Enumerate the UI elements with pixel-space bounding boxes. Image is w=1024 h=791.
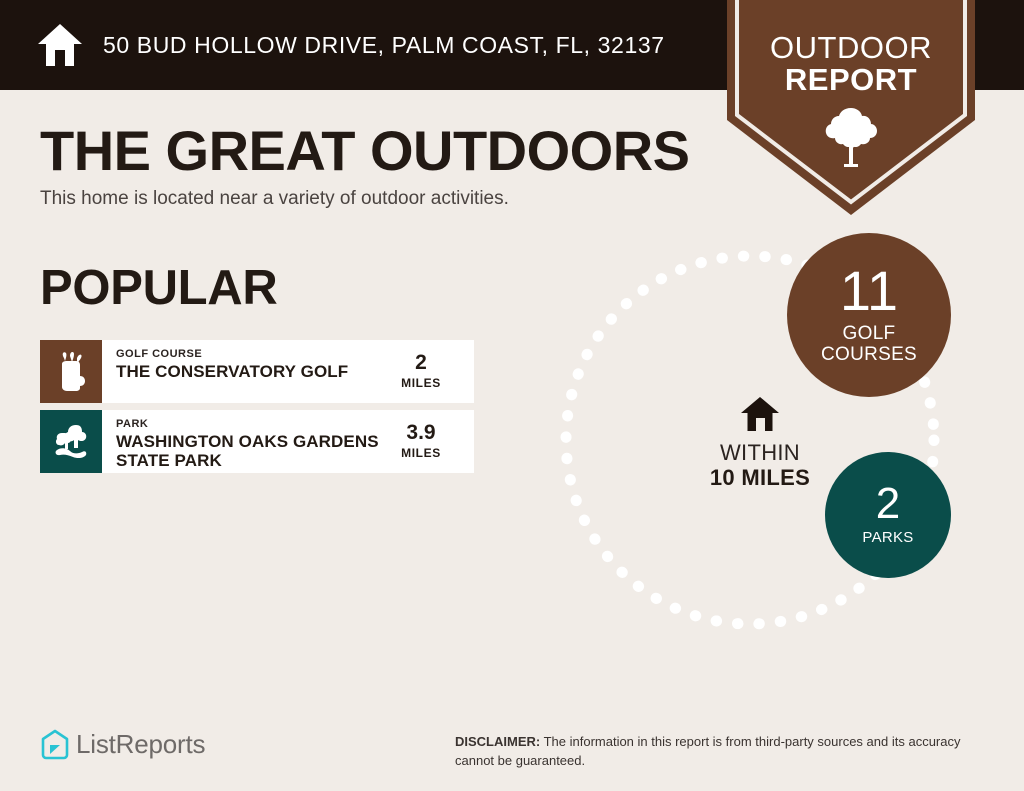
park-trees-icon [50, 421, 92, 463]
outdoor-report-badge: OUTDOOR REPORT [727, 0, 975, 215]
badge-title-line1: OUTDOOR [727, 32, 975, 63]
stat-label: PARKS [862, 530, 913, 546]
radius-line-1: WITHIN [680, 441, 840, 466]
popular-section-title: POPULAR [40, 264, 277, 313]
radius-center-label: WITHIN 10 MILES [680, 395, 840, 490]
list-item[interactable]: GOLF COURSE THE CONSERVATORY GOLF 2 MILE… [40, 340, 474, 403]
popular-list: GOLF COURSE THE CONSERVATORY GOLF 2 MILE… [40, 340, 474, 480]
stat-value: 11 [840, 265, 898, 317]
poi-text: PARK WASHINGTON OAKS GARDENS STATE PARK [116, 418, 388, 470]
stat-label: GOLF COURSES [821, 324, 917, 365]
listreports-wordmark: ListReports [76, 729, 205, 760]
radius-line-2: 10 MILES [680, 466, 840, 491]
poi-category: PARK [116, 418, 388, 431]
home-icon [36, 22, 84, 68]
poi-category: GOLF COURSE [116, 348, 388, 361]
page-title: THE GREAT OUTDOORS [40, 122, 690, 181]
stat-label-line1: PARKS [862, 530, 913, 546]
page-subtitle: This home is located near a variety of o… [40, 188, 509, 210]
listreports-logo[interactable]: ListReports [40, 728, 205, 760]
poi-distance: 2 MILES [382, 352, 460, 390]
poi-distance-value: 3.9 [382, 422, 460, 444]
stat-bubble-golf-courses[interactable]: 11 GOLF COURSES [787, 233, 951, 397]
listreports-house-icon [40, 728, 70, 760]
poi-distance: 3.9 MILES [382, 422, 460, 460]
disclaimer: DISCLAIMER: The information in this repo… [455, 733, 980, 771]
poi-distance-unit: MILES [382, 446, 460, 460]
radius-diagram: WITHIN 10 MILES 11 GOLF COURSES 2 PARKS [540, 225, 1010, 645]
home-icon [739, 395, 781, 433]
golf-bag-icon [51, 350, 91, 394]
stat-value: 2 [876, 484, 900, 524]
poi-icon-tile [40, 340, 102, 403]
poi-icon-tile [40, 410, 102, 473]
stat-bubble-parks[interactable]: 2 PARKS [825, 452, 951, 578]
poi-text: GOLF COURSE THE CONSERVATORY GOLF [116, 348, 388, 381]
badge-title-line2: REPORT [727, 64, 975, 95]
stat-label-line1: GOLF [821, 324, 917, 345]
poi-name: THE CONSERVATORY GOLF [116, 362, 388, 381]
tree-icon [823, 106, 879, 168]
property-address: 50 BUD HOLLOW DRIVE, PALM COAST, FL, 321… [103, 32, 665, 59]
list-item[interactable]: PARK WASHINGTON OAKS GARDENS STATE PARK … [40, 410, 474, 473]
poi-distance-value: 2 [382, 352, 460, 374]
poi-distance-unit: MILES [382, 376, 460, 390]
poi-name: WASHINGTON OAKS GARDENS STATE PARK [116, 432, 388, 470]
disclaimer-label: DISCLAIMER: [455, 734, 540, 749]
stat-label-line2: COURSES [821, 345, 917, 366]
